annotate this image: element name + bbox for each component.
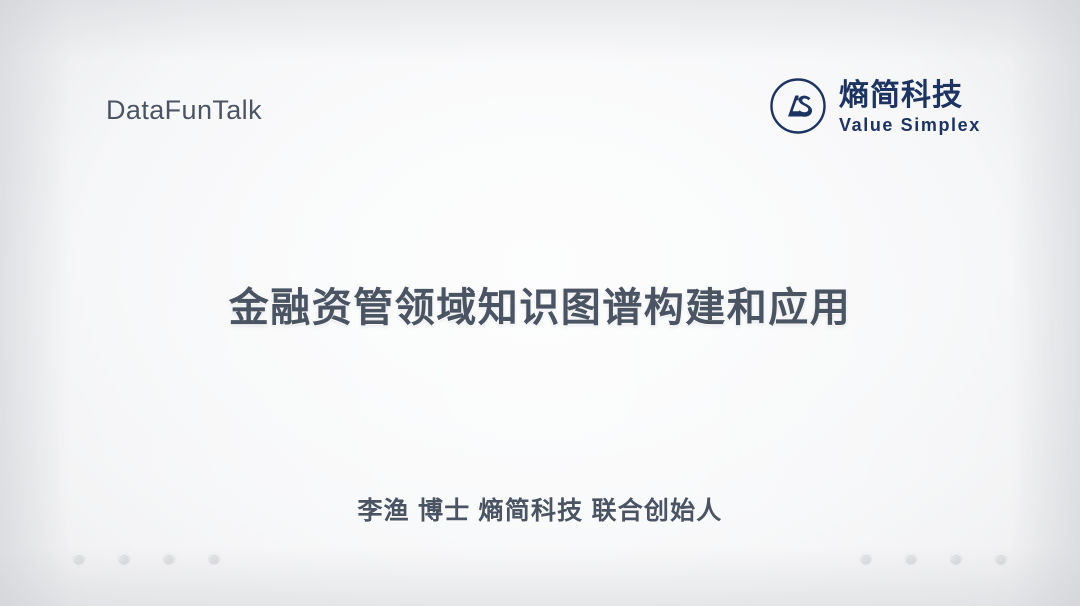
dot-icon <box>74 553 84 563</box>
dot-icon <box>906 553 916 563</box>
presentation-slide: DataFunTalk 熵简科技 Value Simplex 金融资管领域知识图… <box>0 0 1080 606</box>
company-name-en: Value Simplex <box>839 116 981 134</box>
decorative-dots-right <box>861 553 1006 563</box>
slide-title: 金融资管领域知识图谱构建和应用 <box>0 275 1080 333</box>
datafuntalk-wordmark: DataFunTalk <box>106 95 262 126</box>
company-name-block: 熵简科技 Value Simplex <box>839 79 981 134</box>
presenter-subtitle: 李渔 博士 熵简科技 联合创始人 <box>0 491 1080 527</box>
delta-s-monogram-icon <box>768 76 828 136</box>
dot-icon <box>996 553 1006 563</box>
company-name-cn: 熵简科技 <box>839 81 981 111</box>
decorative-dots-left <box>74 553 219 563</box>
dot-icon <box>861 553 871 563</box>
dot-icon <box>164 553 174 563</box>
dot-icon <box>209 553 219 563</box>
company-logo: 熵简科技 Value Simplex <box>768 76 981 136</box>
dot-icon <box>951 553 961 563</box>
dot-icon <box>119 553 129 563</box>
